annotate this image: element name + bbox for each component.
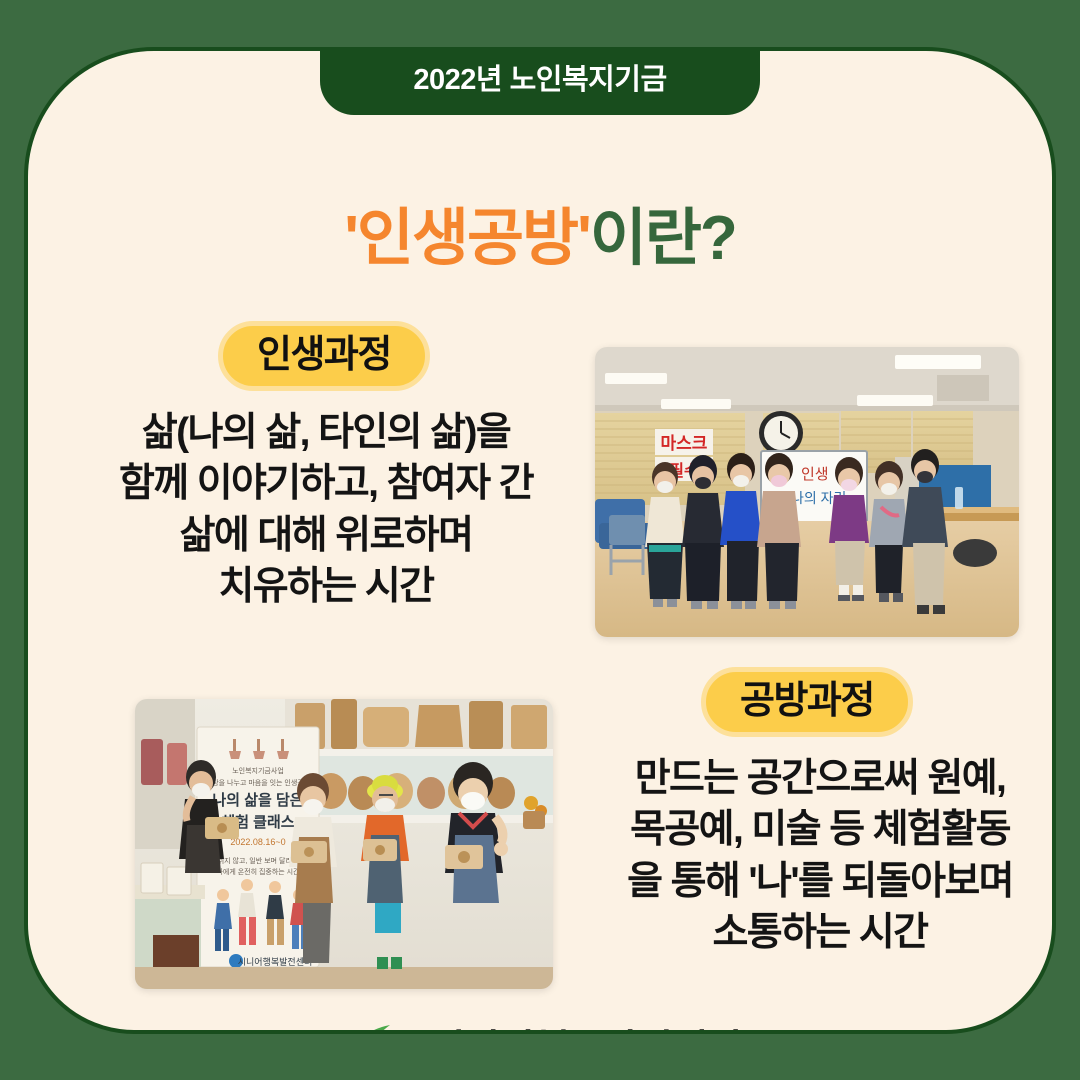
svg-text:일상을 나누고 마음을 잇는 인생공방: 일상을 나누고 마음을 잇는 인생공방 xyxy=(206,778,311,787)
description-line: 함께 이야기하고, 참여자 간 xyxy=(66,458,586,509)
svg-text:2022.08.16~0: 2022.08.16~0 xyxy=(230,837,285,847)
content-card: 마스크 필수 인생 나의 자리 xyxy=(24,47,1056,1034)
header-tab: 2022년 노인복지기금 xyxy=(320,47,760,115)
section-badge-workshop-course-label: 공방과정 xyxy=(740,682,874,723)
life-course-group-photo: 마스크 필수 인생 나의 자리 xyxy=(595,347,1019,637)
section-badge-life-course: 인생과정 xyxy=(218,321,430,391)
page-title-highlight: '인생공방' xyxy=(344,204,590,273)
svg-text:쉬지 않고, 일반 보며 달리는: 쉬지 않고, 일반 보며 달리는 xyxy=(218,856,299,865)
svg-text:나의 삶을 담은: 나의 삶을 담은 xyxy=(212,791,303,809)
section-badge-workshop-course: 공방과정 xyxy=(701,667,913,737)
poster-canvas: 마스크 필수 인생 나의 자리 xyxy=(0,0,1080,1080)
header-tab-label: 2022년 노인복지기금 xyxy=(413,66,666,97)
page-title: '인생공방'이란? xyxy=(28,208,1052,270)
svg-text:인생: 인생 xyxy=(801,466,829,483)
section-badge-life-course-label: 인생과정 xyxy=(257,336,391,377)
svg-text:마스크: 마스크 xyxy=(661,434,708,453)
svg-text:노인복지기금사업: 노인복지기금사업 xyxy=(232,766,284,775)
description-line: 삶에 대해 위로하며 xyxy=(66,510,586,561)
description-line: 치유하는 시간 xyxy=(66,561,586,612)
description-line: 소통하는 시간 xyxy=(556,907,1056,958)
page-title-suffix: 이란? xyxy=(590,204,736,273)
description-line: 삶(나의 삶, 타인의 삶)을 xyxy=(66,407,586,458)
section-description-workshop-course: 만드는 공간으로써 원예, 목공예, 미술 등 체험활동 을 통해 '나'를 되… xyxy=(556,753,1056,959)
senior-center-logo-icon xyxy=(340,1023,402,1034)
section-description-life-course: 삶(나의 삶, 타인의 삶)을 함께 이야기하고, 참여자 간 삶에 대해 위로… xyxy=(66,407,586,613)
svg-text:시니어행복발전센터: 시니어행복발전센터 xyxy=(238,956,313,967)
description-line: 을 통해 '나'를 되돌아보며 xyxy=(556,856,1056,907)
svg-text:나에게 온전히 집중하는 시간: 나에게 온전히 집중하는 시간 xyxy=(216,867,300,876)
workshop-course-group-photo: 노인복지기금사업 일상을 나누고 마음을 잇는 인생공방 나의 삶을 담은 체험… xyxy=(135,699,553,989)
footer-logo: 구 립 시니어행복발전센터 xyxy=(28,1023,1052,1034)
footer-logo-name: 시니어행복발전센터 xyxy=(429,1030,740,1034)
footer-logo-prefix: 구 립 xyxy=(409,1034,422,1035)
description-line: 만드는 공간으로써 원예, xyxy=(556,753,1056,804)
description-line: 목공예, 미술 등 체험활동 xyxy=(556,804,1056,855)
